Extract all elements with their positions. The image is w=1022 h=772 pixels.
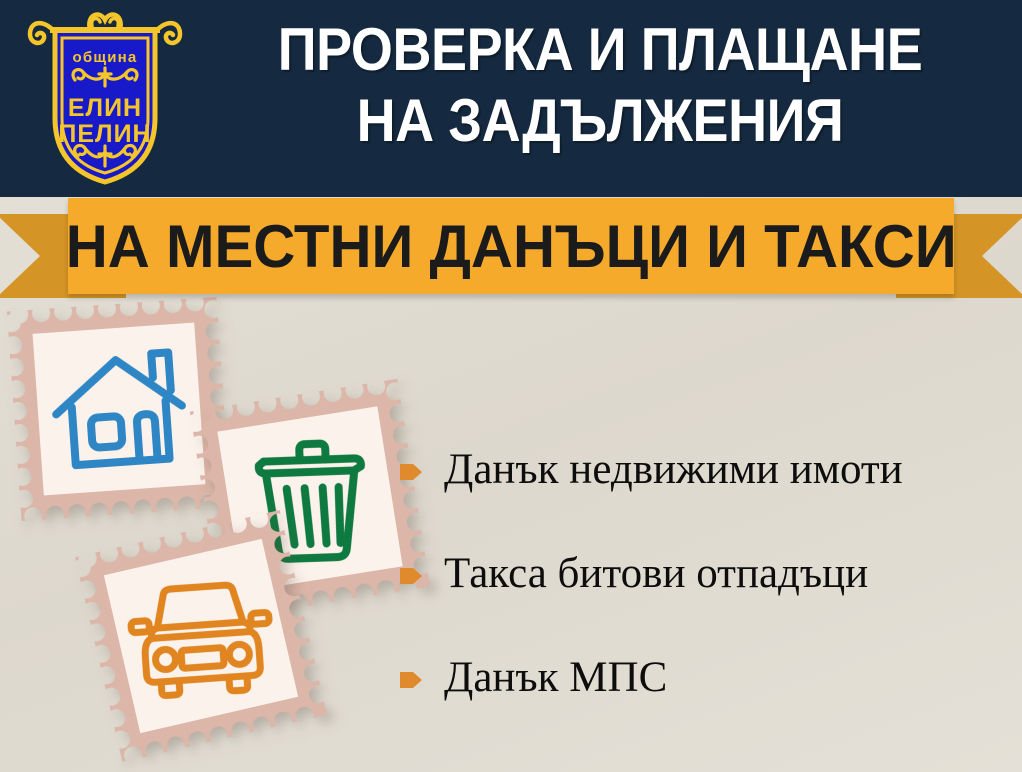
list-item[interactable]: Данък недвижими имоти: [398, 418, 1013, 522]
ribbon-banner: НА МЕСТНИ ДАНЪЦИ И ТАКСИ: [0, 196, 1022, 306]
crest-line2: ЕЛИН: [68, 94, 142, 122]
arrow-bullet-icon: [398, 667, 424, 693]
list-item-label: Такса битови отпадъци: [444, 550, 868, 598]
arrow-bullet-icon: [398, 563, 424, 589]
list-item-label: Данък недвижими имоти: [444, 446, 903, 494]
arrow-bullet-icon: [398, 459, 424, 485]
header-banner: община ЕЛИН ПЕЛИН: [0, 0, 1022, 197]
poster-canvas: община ЕЛИН ПЕЛИН: [0, 0, 1022, 772]
stamp-collage: [0, 296, 420, 772]
stamp-house: [7, 297, 231, 521]
ribbon-band: НА МЕСТНИ ДАНЪЦИ И ТАКСИ: [68, 198, 954, 294]
page-title: ПРОВЕРКА И ПЛАЩАНЕ НА ЗАДЪЛЖЕНИЯ: [231, 14, 969, 156]
list-item[interactable]: Данък МПС: [398, 626, 1013, 730]
crest-line3: ПЕЛИН: [58, 120, 151, 148]
crest-line1: община: [73, 49, 138, 66]
tax-type-list: Данък недвижими имоти Такса битови отпад…: [398, 418, 1013, 730]
list-item[interactable]: Такса битови отпадъци: [398, 522, 1013, 626]
municipality-crest-icon: община ЕЛИН ПЕЛИН: [20, 8, 190, 188]
list-item-label: Данък МПС: [444, 654, 667, 702]
ribbon-label: НА МЕСТНИ ДАНЪЦИ И ТАКСИ: [66, 216, 957, 278]
